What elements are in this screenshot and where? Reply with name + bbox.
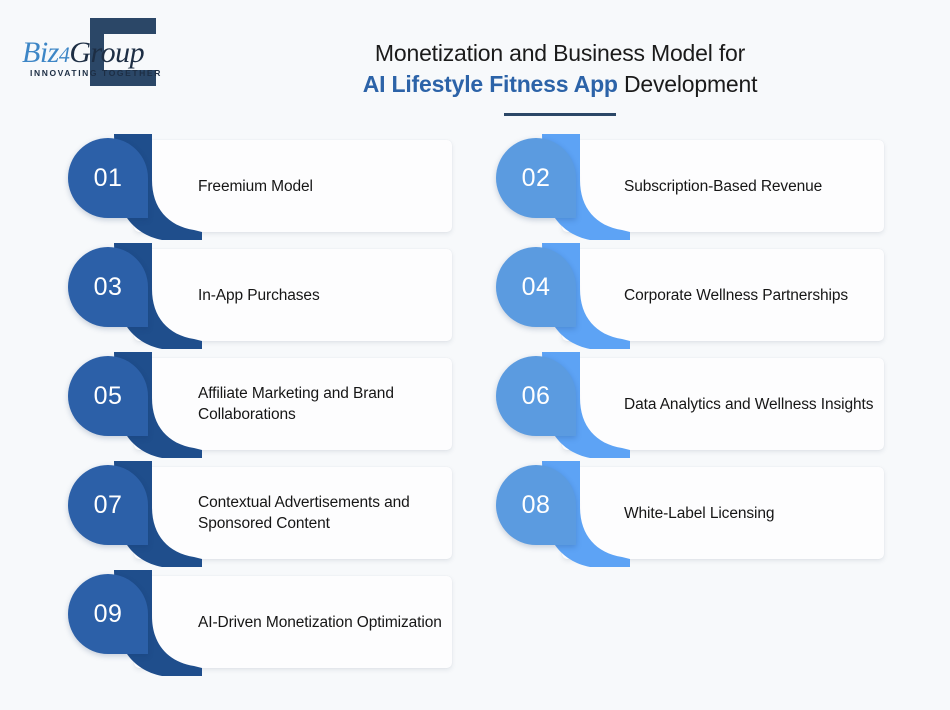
item-number-badge: 03	[68, 247, 148, 327]
monetization-item[interactable]: 09AI-Driven Monetization Optimization	[62, 568, 457, 677]
item-label: In-App Purchases	[198, 241, 450, 349]
items-column-right: 02Subscription-Based Revenue04Corporate …	[490, 132, 885, 568]
page-title-accent: AI Lifestyle Fitness App	[363, 71, 618, 97]
item-label: AI-Driven Monetization Optimization	[198, 568, 450, 676]
monetization-item[interactable]: 01Freemium Model	[62, 132, 457, 241]
monetization-item[interactable]: 05Affiliate Marketing and Brand Collabor…	[62, 350, 457, 459]
item-number-badge: 09	[68, 574, 148, 654]
item-number-badge: 04	[496, 247, 576, 327]
monetization-item[interactable]: 06Data Analytics and Wellness Insights	[490, 350, 885, 459]
item-label: Corporate Wellness Partnerships	[624, 241, 882, 349]
logo-word-group: Group	[69, 36, 144, 69]
monetization-item[interactable]: 03In-App Purchases	[62, 241, 457, 350]
bizgroup-logo: Biz4Group INNOVATING TOGETHER	[18, 16, 178, 94]
logo-wordmark: Biz4Group	[22, 36, 144, 70]
item-label: White-Label Licensing	[624, 459, 882, 567]
item-label: Contextual Advertisements and Sponsored …	[198, 459, 450, 567]
item-number-badge: 02	[496, 138, 576, 218]
item-label: Freemium Model	[198, 132, 450, 240]
item-number-badge: 07	[68, 465, 148, 545]
item-number-badge: 08	[496, 465, 576, 545]
monetization-item[interactable]: 07Contextual Advertisements and Sponsore…	[62, 459, 457, 568]
monetization-item[interactable]: 04Corporate Wellness Partnerships	[490, 241, 885, 350]
page-title-line-2-rest: Development	[618, 71, 758, 97]
monetization-item[interactable]: 02Subscription-Based Revenue	[490, 132, 885, 241]
item-number-badge: 06	[496, 356, 576, 436]
item-label: Subscription-Based Revenue	[624, 132, 882, 240]
page-title: Monetization and Business Model for AI L…	[200, 38, 920, 116]
items-column-left: 01Freemium Model03In-App Purchases05Affi…	[62, 132, 457, 677]
logo-word-biz: Biz	[22, 36, 59, 69]
item-label: Data Analytics and Wellness Insights	[624, 350, 882, 458]
item-label: Affiliate Marketing and Brand Collaborat…	[198, 350, 450, 458]
page-title-line-1: Monetization and Business Model for	[200, 38, 920, 69]
item-number-badge: 01	[68, 138, 148, 218]
page-title-line-2: AI Lifestyle Fitness App Development	[200, 69, 920, 100]
monetization-item[interactable]: 08White-Label Licensing	[490, 459, 885, 568]
logo-word-four: 4	[59, 42, 70, 67]
title-underline	[504, 113, 616, 116]
logo-tagline: INNOVATING TOGETHER	[30, 68, 162, 78]
item-number-badge: 05	[68, 356, 148, 436]
page-header: Biz4Group INNOVATING TOGETHER Monetizati…	[0, 0, 950, 132]
